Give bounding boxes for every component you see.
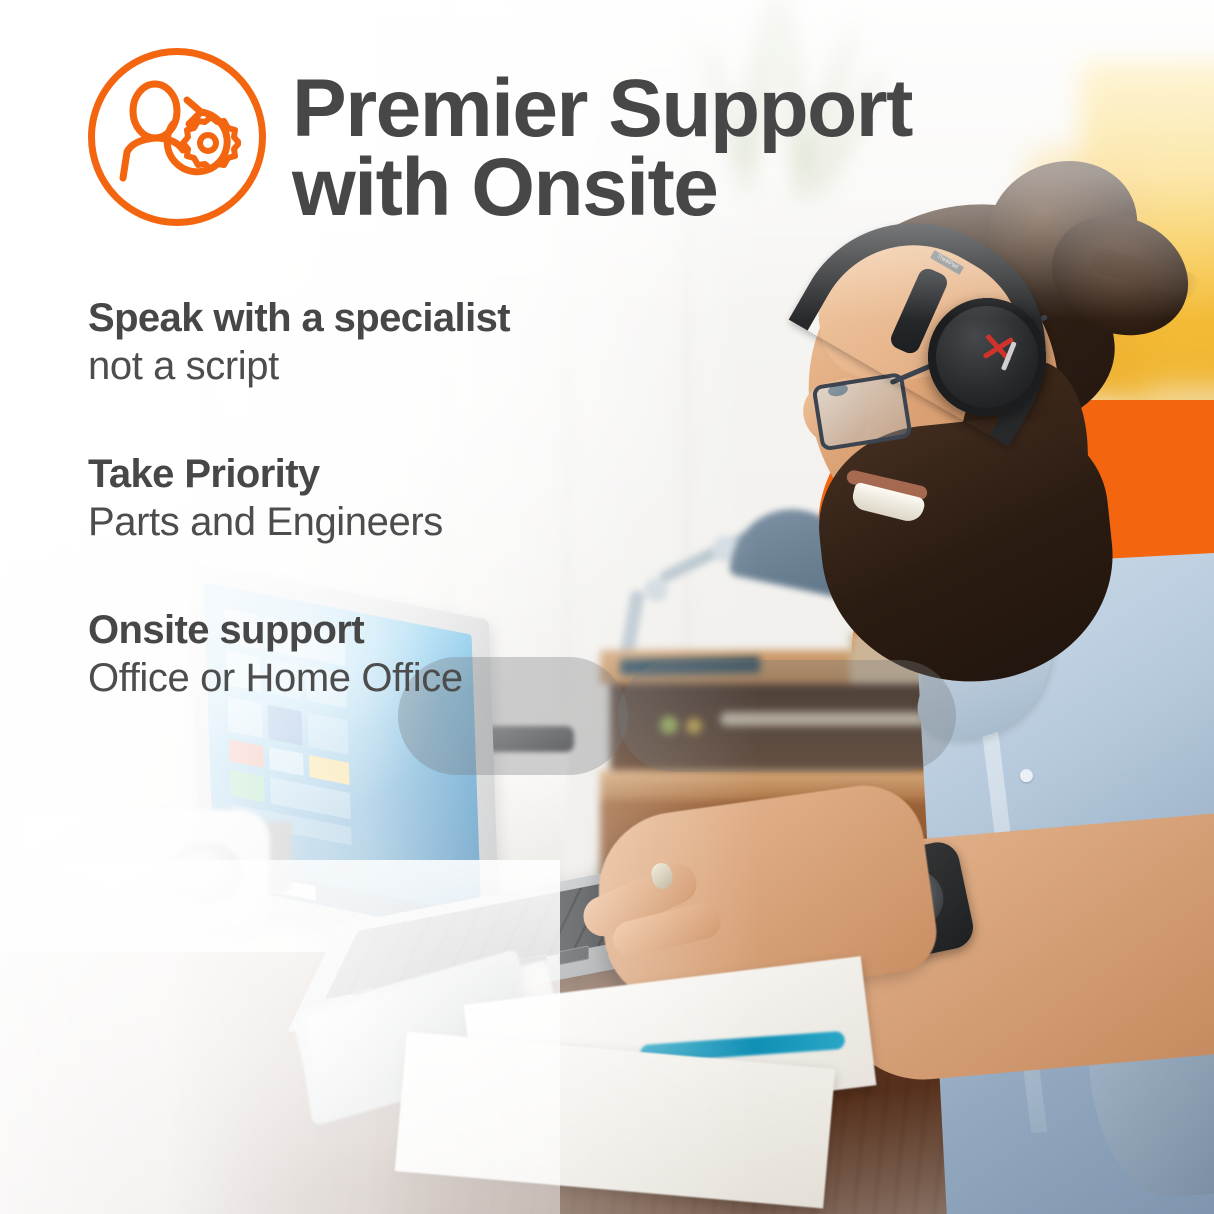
feature-heading: Onsite support [88, 608, 788, 653]
feature-subtext: Parts and Engineers [88, 499, 788, 546]
feature-heading: Speak with a specialist [88, 296, 788, 341]
feature-list: Speak with a specialist not a script Tak… [88, 296, 788, 702]
feature-heading: Take Priority [88, 452, 788, 497]
feature-subtext: Office or Home Office [88, 655, 788, 702]
feature-subtext: not a script [88, 343, 788, 390]
poster-header: Premier Support with Onsite [88, 48, 912, 227]
feature-item-specialist: Speak with a specialist not a script [88, 296, 788, 390]
support-person-gear-icon [88, 48, 266, 226]
poster-content: Premier Support with Onsite Speak with a… [0, 0, 1214, 1214]
feature-item-priority: Take Priority Parts and Engineers [88, 452, 788, 546]
page-title: Premier Support with Onsite [292, 48, 912, 227]
promo-poster: ThinkPad [0, 0, 1214, 1214]
feature-item-onsite: Onsite support Office or Home Office [88, 608, 788, 702]
